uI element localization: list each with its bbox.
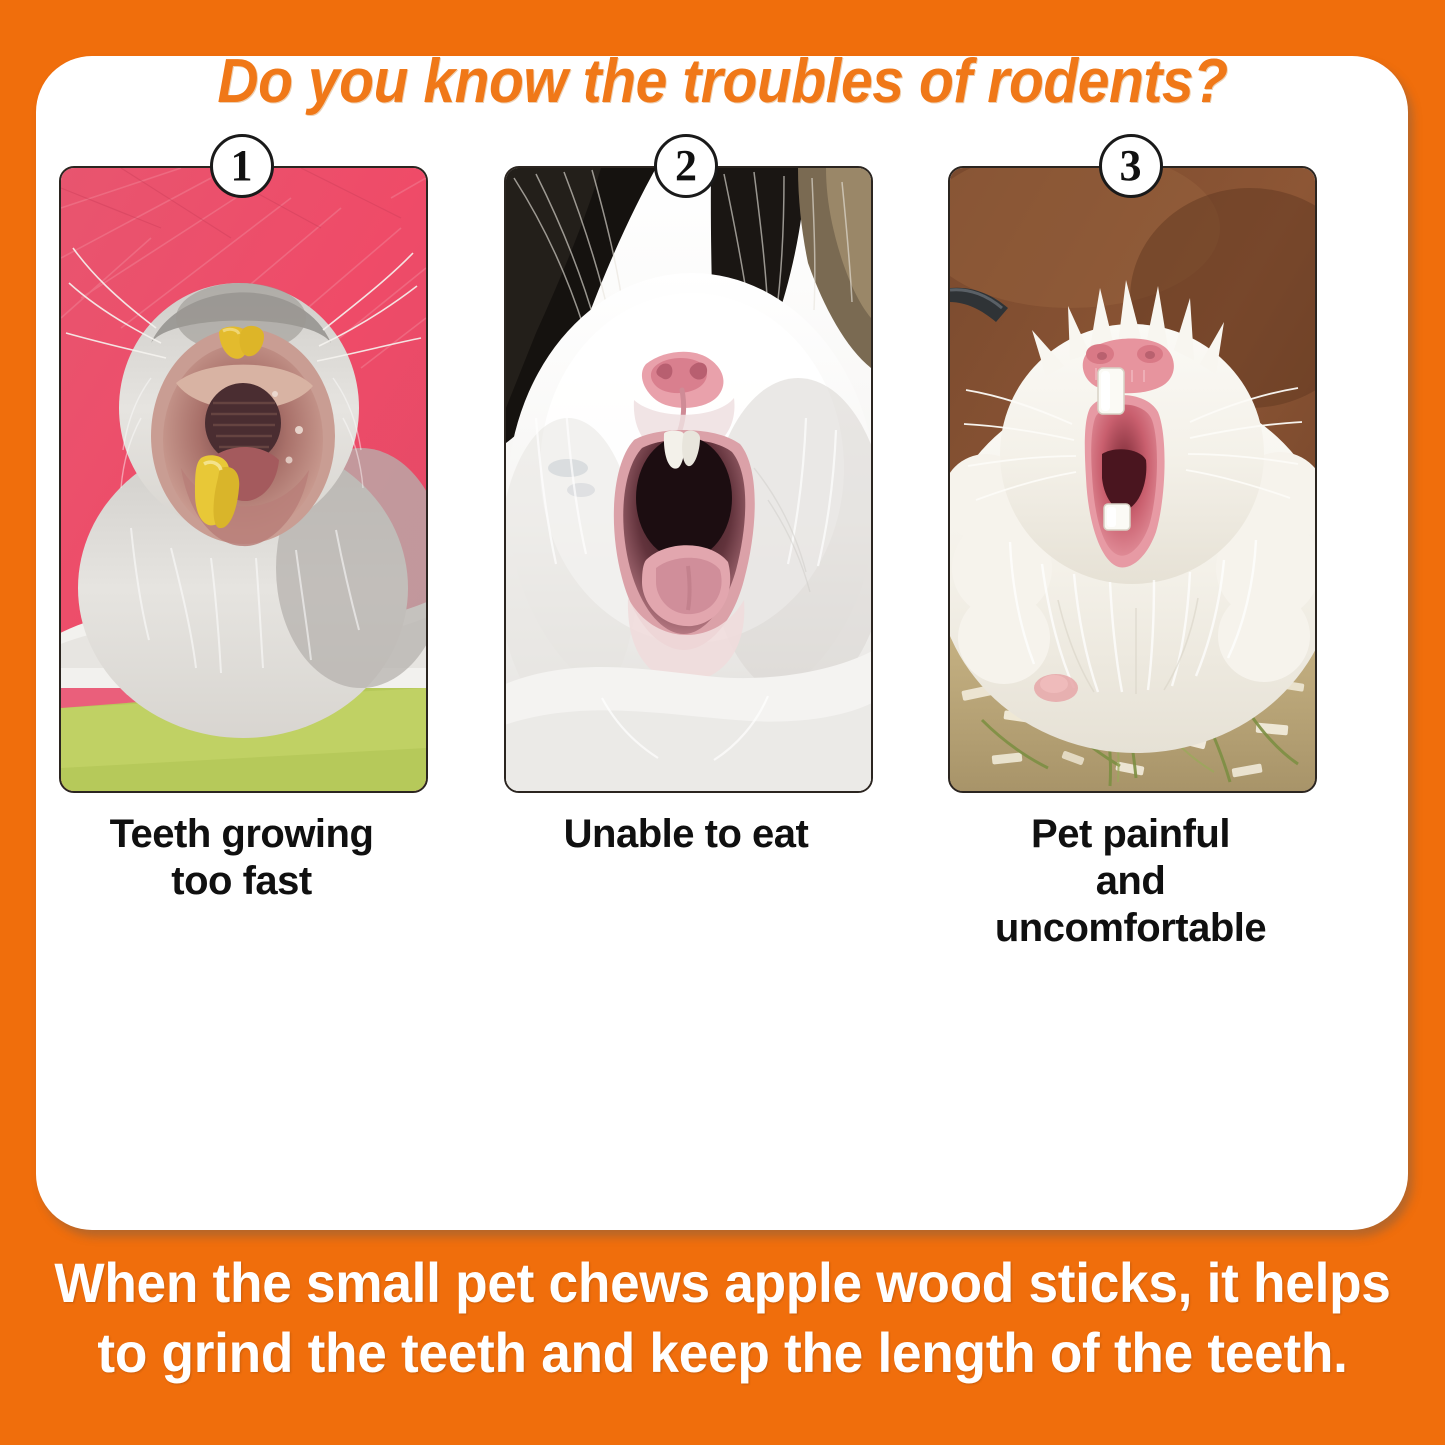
poster-root: Do you know the troubles of rodents? 1 <box>0 0 1445 1445</box>
panel-2-caption: Unable to eat <box>504 811 869 858</box>
badge-number-1: 1 <box>210 134 274 198</box>
badge-number-3: 3 <box>1099 134 1163 198</box>
caption-line: uncomfortable <box>948 905 1313 952</box>
caption-line: too fast <box>59 858 424 905</box>
panel-2: 2 <box>504 166 869 1066</box>
rabbit-open-mouth-photo <box>504 166 873 793</box>
hamster-open-mouth-photo <box>948 166 1317 793</box>
panel-1-caption: Teeth growing too fast <box>59 811 424 905</box>
panel-3-caption: Pet painful and uncomfortable <box>948 811 1313 953</box>
banner-line: When the small pet chews apple wood stic… <box>36 1248 1409 1318</box>
panels-row: 1 <box>59 166 1313 1066</box>
caption-line: Unable to eat <box>504 811 869 858</box>
bottom-banner: When the small pet chews apple wood stic… <box>36 1248 1409 1388</box>
page-title: Do you know the troubles of rodents? <box>58 46 1387 117</box>
rodent-overgrown-teeth-photo <box>59 166 428 793</box>
panel-3: 3 <box>948 166 1313 1066</box>
badge-number-2: 2 <box>654 134 718 198</box>
caption-line: and <box>948 858 1313 905</box>
panel-1: 1 <box>59 166 424 1066</box>
banner-line: to grind the teeth and keep the length o… <box>36 1318 1409 1388</box>
caption-line: Pet painful <box>948 811 1313 858</box>
caption-line: Teeth growing <box>59 811 424 858</box>
